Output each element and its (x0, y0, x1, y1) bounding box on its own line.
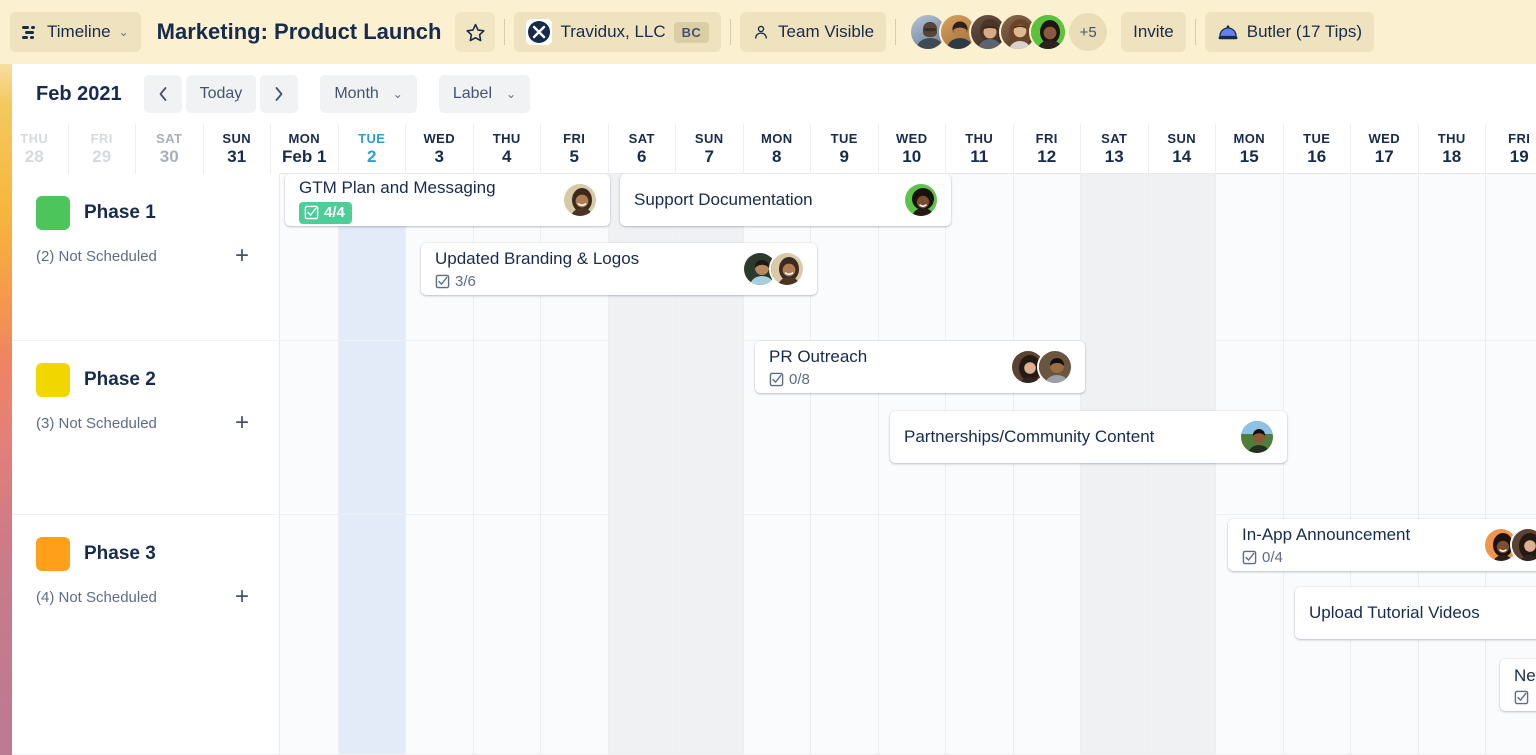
card-checklist-count: 4/4 (324, 204, 345, 222)
date-header-day: 5 (570, 147, 579, 167)
card-body: GTM Plan and Messaging4/4 (299, 177, 554, 224)
board-accent-strip (0, 64, 12, 755)
timeline-card[interactable]: GTM Plan and Messaging4/4 (285, 174, 610, 226)
date-header-dow: SUN (222, 131, 251, 147)
add-card-button[interactable]: + (230, 411, 254, 435)
group-by-label: Label (453, 85, 492, 103)
date-header-dow: FRI (1036, 131, 1058, 147)
avatar[interactable] (562, 182, 598, 218)
date-header-dow: THU (20, 131, 48, 147)
lane-unscheduled-count[interactable]: (4) Not Scheduled (36, 589, 157, 606)
date-header-cell: MON15 (1215, 124, 1283, 174)
card-title: PR Outreach (769, 346, 1002, 368)
avatar[interactable] (769, 251, 805, 287)
date-header-dow: TUE (358, 131, 385, 147)
timeline-body: Phase 1(2) Not Scheduled+Phase 2(3) Not … (0, 174, 1536, 755)
card-body: New (1514, 665, 1536, 705)
card-body: Partnerships/Community Content (904, 426, 1231, 448)
card-body: In-App Announcement0/4 (1242, 524, 1475, 567)
timeline-card[interactable]: Updated Branding & Logos3/6 (421, 243, 817, 295)
workspace-button[interactable]: Travidux, LLC BC (514, 12, 721, 52)
date-header-cell: WED17 (1350, 124, 1418, 174)
timeline-card[interactable]: Support Documentation (620, 174, 951, 226)
avatar[interactable] (903, 182, 939, 218)
date-header-day: 15 (1240, 147, 1259, 167)
zoom-level-select[interactable]: Month ⌄ (320, 75, 417, 113)
board-header: Timeline ⌄ Marketing: Product Launch Tra… (0, 0, 1536, 64)
date-header-day: 7 (705, 147, 714, 167)
lane-color-swatch (36, 196, 70, 230)
timeline-card[interactable]: Partnerships/Community Content (890, 411, 1287, 463)
date-header-dow: TUE (1303, 131, 1330, 147)
date-header-day: 10 (902, 147, 921, 167)
date-header-dow: THU (965, 131, 993, 147)
divider (895, 19, 896, 45)
divider (1195, 19, 1196, 45)
lane-header-phase-1[interactable]: Phase 1(2) Not Scheduled+ (0, 174, 280, 340)
date-header-cell: SAT6 (608, 124, 676, 174)
lane-header-phase-3[interactable]: Phase 3(4) Not Scheduled+ (0, 515, 280, 754)
date-header-dow: MON (761, 131, 793, 147)
card-checklist-count: 0/4 (1262, 549, 1283, 567)
timeline-icon (22, 25, 39, 40)
card-title: In-App Announcement (1242, 524, 1475, 546)
card-body: PR Outreach0/8 (769, 346, 1002, 389)
date-header-cell: THU4 (473, 124, 541, 174)
date-header-dow: WED (423, 131, 455, 147)
avatar[interactable] (1037, 349, 1073, 385)
date-header-cell: SUN31 (203, 124, 271, 174)
card-member-avatars[interactable] (1010, 349, 1073, 385)
card-title: Upload Tutorial Videos (1309, 602, 1536, 624)
add-card-button[interactable]: + (230, 585, 254, 609)
date-header-cell: TUE16 (1283, 124, 1351, 174)
card-title: Updated Branding & Logos (435, 248, 734, 270)
today-label: Today (200, 85, 243, 103)
card-member-avatars[interactable] (1483, 527, 1536, 563)
invite-label: Invite (1133, 22, 1174, 42)
trello-timeline-view: Timeline ⌄ Marketing: Product Launch Tra… (0, 0, 1536, 755)
workspace-badge: BC (674, 22, 709, 43)
date-header-day: Feb 1 (282, 147, 326, 167)
card-checklist-badge: 0/4 (1242, 549, 1283, 567)
date-header-cell: SAT30 (135, 124, 203, 174)
lane-header-phase-2[interactable]: Phase 2(3) Not Scheduled+ (0, 341, 280, 514)
current-period-label: Feb 2021 (36, 83, 122, 106)
butler-button[interactable]: Butler (17 Tips) (1205, 12, 1374, 52)
travidux-logo-icon (526, 19, 552, 45)
card-member-avatars[interactable] (1239, 419, 1275, 455)
date-header-cell: TUE9 (810, 124, 878, 174)
date-header-dow: MON (288, 131, 320, 147)
avatar[interactable] (1510, 527, 1536, 563)
divider (730, 19, 731, 45)
group-by-select[interactable]: Label ⌄ (439, 75, 530, 113)
view-switcher-timeline-button[interactable]: Timeline ⌄ (10, 12, 141, 52)
zoom-level-label: Month (334, 85, 378, 103)
date-header-day: 29 (92, 147, 111, 167)
date-header-cell: SUN7 (675, 124, 743, 174)
workspace-name: Travidux, LLC (560, 22, 665, 42)
date-header-day: 14 (1172, 147, 1191, 167)
chevron-down-icon: ⌄ (506, 87, 516, 101)
lane-color-swatch (36, 363, 70, 397)
card-checklist-badge: 3/6 (435, 273, 476, 291)
member-avatar-stack[interactable]: +5 (909, 13, 1107, 51)
date-header-day: 31 (227, 147, 246, 167)
divider (504, 19, 505, 45)
avatar-overflow-badge[interactable]: +5 (1069, 13, 1107, 51)
lane-title: Phase 2 (84, 369, 156, 391)
date-header-dow: FRI (563, 131, 585, 147)
date-header-day: 3 (435, 147, 444, 167)
card-checklist-badge (1514, 690, 1534, 705)
date-header-cell: FRI29 (68, 124, 136, 174)
lane-title: Phase 3 (84, 543, 156, 565)
chevron-down-icon: ⌄ (393, 87, 403, 101)
date-header-day: 6 (637, 147, 646, 167)
date-header-cell: WED10 (878, 124, 946, 174)
card-body: Upload Tutorial Videos (1309, 602, 1536, 624)
date-header-dow: SAT (1101, 131, 1127, 147)
card-title: Partnerships/Community Content (904, 426, 1231, 448)
date-header-cell: MONFeb 1 (270, 124, 338, 174)
date-header-day: 2 (367, 147, 376, 167)
date-header-cell: TUE2 (338, 124, 406, 174)
date-header-dow: WED (896, 131, 928, 147)
date-header-cell: THU11 (945, 124, 1013, 174)
lane-unscheduled-count[interactable]: (3) Not Scheduled (36, 415, 157, 432)
date-header-day: 9 (840, 147, 849, 167)
date-header-day: 17 (1375, 147, 1394, 167)
date-header-day: 8 (772, 147, 781, 167)
team-visible-icon (752, 23, 770, 41)
visibility-label: Team Visible (778, 22, 874, 42)
card-title: Support Documentation (634, 189, 895, 211)
date-header-cell: THU18 (1418, 124, 1486, 174)
timeline-card[interactable]: In-App Announcement0/4 (1228, 519, 1536, 571)
lane-color-swatch (36, 537, 70, 571)
date-header-day: 30 (160, 147, 179, 167)
date-header-day: 28 (25, 147, 44, 167)
date-header-cell: FRI19 (1485, 124, 1536, 174)
date-header-day: 4 (502, 147, 511, 167)
date-header-dow: WED (1368, 131, 1400, 147)
invite-button[interactable]: Invite (1121, 12, 1186, 52)
timeline-card[interactable]: PR Outreach0/8 (755, 341, 1085, 393)
card-checklist-badge: 4/4 (299, 202, 352, 224)
timeline-card[interactable]: Upload Tutorial Videos (1295, 587, 1536, 639)
chevron-down-icon: ⌄ (119, 25, 129, 39)
date-header-dow: SAT (629, 131, 655, 147)
star-icon[interactable] (455, 12, 495, 52)
lane-title: Phase 1 (84, 202, 156, 224)
date-header-dow: FRI (1508, 131, 1530, 147)
card-member-avatars[interactable] (562, 182, 598, 218)
date-header-day: 12 (1037, 147, 1056, 167)
date-header-cell: FRI12 (1013, 124, 1081, 174)
today-button[interactable]: Today (186, 75, 257, 113)
date-header-day: 18 (1442, 147, 1461, 167)
visibility-button[interactable]: Team Visible (740, 12, 886, 52)
date-header-cell: FRI5 (540, 124, 608, 174)
card-body: Updated Branding & Logos3/6 (435, 248, 734, 291)
card-checklist-count: 3/6 (455, 273, 476, 291)
date-header-dow: THU (1438, 131, 1466, 147)
date-navigation-group: Today (144, 75, 299, 113)
card-title: GTM Plan and Messaging (299, 177, 554, 199)
date-header-day: 13 (1105, 147, 1124, 167)
date-header-day: 11 (970, 147, 988, 167)
date-header-day: 16 (1307, 147, 1326, 167)
card-member-avatars[interactable] (742, 251, 805, 287)
prev-period-button[interactable] (144, 75, 182, 113)
date-header-dow: SUN (1167, 131, 1196, 147)
add-card-button[interactable]: + (230, 244, 254, 268)
date-header-dow: SUN (695, 131, 724, 147)
date-header-cell: SUN14 (1148, 124, 1216, 174)
page-title: Marketing: Product Launch (157, 19, 442, 45)
date-header-cell: WED3 (405, 124, 473, 174)
date-header-dow: SAT (156, 131, 182, 147)
calendar-date-header: THU28FRI29SAT30SUN31MONFeb 1TUE2WED3THU4… (0, 124, 1536, 174)
card-body: Support Documentation (634, 189, 895, 211)
date-header-day: 19 (1510, 147, 1529, 167)
card-checklist-count: 0/8 (789, 371, 810, 389)
date-header-dow: MON (1233, 131, 1265, 147)
card-checklist-badge: 0/8 (769, 371, 810, 389)
view-switcher-label: Timeline (47, 22, 111, 42)
date-header-cell: MON8 (743, 124, 811, 174)
butler-label: Butler (17 Tips) (1247, 22, 1362, 42)
date-header-cell: SAT13 (1080, 124, 1148, 174)
avatar[interactable] (1029, 13, 1067, 51)
date-header-dow: FRI (91, 131, 113, 147)
date-header-dow: THU (493, 131, 521, 147)
lane-unscheduled-count[interactable]: (2) Not Scheduled (36, 248, 157, 265)
card-title: New (1514, 665, 1536, 687)
next-period-button[interactable] (260, 75, 298, 113)
card-member-avatars[interactable] (903, 182, 939, 218)
avatar[interactable] (1239, 419, 1275, 455)
timeline-card[interactable]: New (1500, 659, 1536, 711)
timeline-toolbar: Feb 2021 Today Month ⌄ Label ⌄ (0, 64, 1536, 124)
date-header-dow: TUE (831, 131, 858, 147)
butler-icon (1217, 23, 1239, 41)
